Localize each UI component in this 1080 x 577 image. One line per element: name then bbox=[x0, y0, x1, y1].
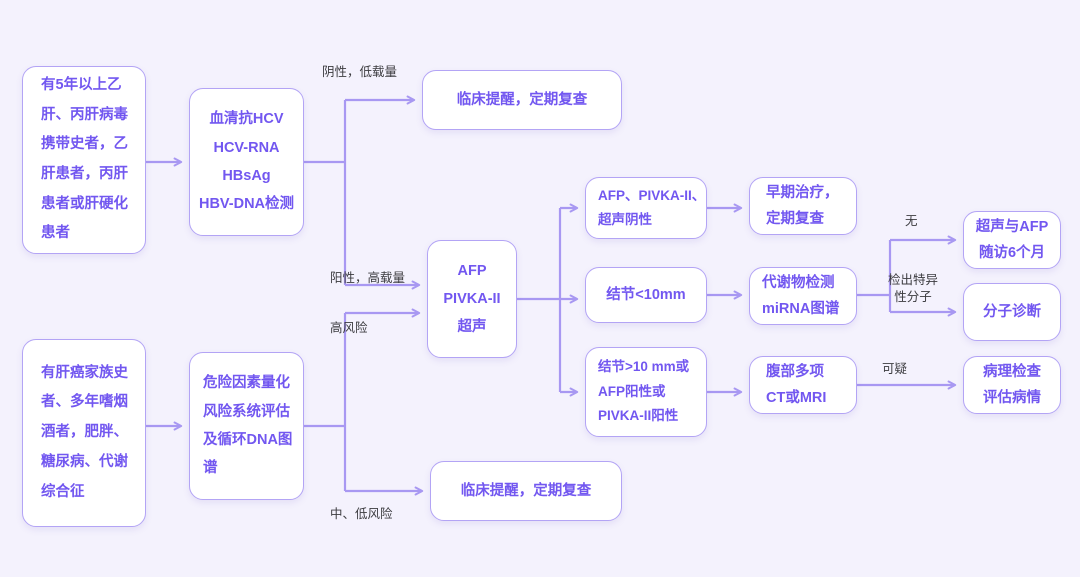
node-line: 超声阴性 bbox=[598, 208, 652, 232]
node-line: 携带史者，乙 bbox=[41, 130, 128, 160]
node-line: 糖尿病、代谢 bbox=[41, 448, 128, 478]
node-early-treatment-followup[interactable]: 早期治疗， 定期复查 bbox=[749, 177, 857, 235]
edge-label-high-risk: 高风险 bbox=[330, 320, 368, 337]
node-line: PIVKA-II阳性 bbox=[598, 404, 678, 429]
node-line: 有肝癌家族史 bbox=[41, 359, 128, 389]
node-line: 结节>10 mm或 bbox=[598, 355, 689, 380]
edge-label-line: 性分子 bbox=[888, 289, 938, 306]
node-line: 肝、丙肝病毒 bbox=[41, 101, 128, 131]
node-afp-pivka-us-negative[interactable]: AFP、PIVKA-II、 超声阴性 bbox=[585, 177, 707, 239]
node-virology-panel[interactable]: 血清抗HCV HCV-RNA HBsAg HBV-DNA检测 bbox=[189, 88, 304, 236]
node-line: HBV-DNA检测 bbox=[199, 190, 294, 218]
edge-label-positive-high-load: 阳性，高载量 bbox=[330, 270, 405, 287]
node-metabolite-mirna[interactable]: 代谢物检测 miRNA图谱 bbox=[749, 267, 857, 325]
edge-label-line: 阳性，高载量 bbox=[330, 271, 405, 285]
node-clinical-reminder-bottom[interactable]: 临床提醒，定期复查 bbox=[430, 461, 622, 521]
edge-label-line: 阴性，低载量 bbox=[322, 65, 397, 79]
node-afp-pivka-ultrasound[interactable]: AFP PIVKA-II 超声 bbox=[427, 240, 517, 358]
node-line: 分子诊断 bbox=[983, 298, 1041, 326]
node-line: 危险因素量化 bbox=[203, 369, 290, 397]
node-risk-group-metabolic[interactable]: 有肝癌家族史 者、多年嗜烟 酒者，肥胖、 糖尿病、代谢 综合征 bbox=[22, 339, 146, 527]
node-line: 结节<10mm bbox=[606, 281, 685, 309]
node-us-afp-followup-6months[interactable]: 超声与AFP 随访6个月 bbox=[963, 211, 1061, 269]
node-line: 定期复查 bbox=[766, 206, 824, 232]
node-line: 血清抗HCV bbox=[209, 105, 283, 133]
edge-label-line: 高风险 bbox=[330, 321, 368, 335]
node-line: PIVKA-II bbox=[443, 285, 500, 313]
node-line: 超声与AFP bbox=[976, 214, 1049, 240]
node-line: AFP阳性或 bbox=[598, 380, 666, 405]
edge-label-line: 中、低风险 bbox=[330, 507, 393, 521]
node-line: miRNA图谱 bbox=[762, 296, 839, 322]
node-line: 综合征 bbox=[41, 478, 85, 508]
node-clinical-reminder-top[interactable]: 临床提醒，定期复查 bbox=[422, 70, 622, 130]
node-line: AFP、PIVKA-II、 bbox=[598, 184, 705, 208]
node-line: 评估病情 bbox=[983, 385, 1041, 411]
edge-label-line: 无 bbox=[905, 214, 918, 228]
node-line: 代谢物检测 bbox=[762, 270, 835, 296]
edge-label-line: 可疑 bbox=[882, 362, 907, 376]
node-line: 者、多年嗜烟 bbox=[41, 388, 128, 418]
node-line: 患者 bbox=[41, 219, 70, 249]
node-line: 风险系统评估 bbox=[203, 398, 290, 426]
node-line: 有5年以上乙 bbox=[41, 71, 122, 101]
node-line: CT或MRI bbox=[766, 385, 826, 411]
node-line: 临床提醒，定期复查 bbox=[461, 477, 592, 505]
flowchart-canvas: 有5年以上乙 肝、丙肝病毒 携带史者，乙 肝患者，丙肝 患者或肝硬化 患者 血清… bbox=[0, 0, 1080, 577]
node-risk-factor-quantification[interactable]: 危险因素量化 风险系统评估 及循环DNA图 谱 bbox=[189, 352, 304, 500]
edge-label-none: 无 bbox=[905, 213, 918, 230]
edge-label-suspicious: 可疑 bbox=[882, 361, 907, 378]
node-pathology-assessment[interactable]: 病理检查 评估病情 bbox=[963, 356, 1061, 414]
node-line: HBsAg bbox=[222, 162, 270, 190]
node-risk-group-hepatitis[interactable]: 有5年以上乙 肝、丙肝病毒 携带史者，乙 肝患者，丙肝 患者或肝硬化 患者 bbox=[22, 66, 146, 254]
node-line: 临床提醒，定期复查 bbox=[457, 86, 588, 114]
edge-label-negative-low-load: 阴性，低载量 bbox=[322, 64, 397, 81]
node-line: 病理检查 bbox=[983, 359, 1041, 385]
node-line: 肝患者，丙肝 bbox=[41, 160, 128, 190]
node-molecular-diagnosis[interactable]: 分子诊断 bbox=[963, 283, 1061, 341]
node-nodule-over-10mm[interactable]: 结节>10 mm或 AFP阳性或 PIVKA-II阳性 bbox=[585, 347, 707, 437]
edge-label-specific-molecule-detected: 检出特异 性分子 bbox=[888, 272, 938, 306]
node-abdominal-ct-mri[interactable]: 腹部多项 CT或MRI bbox=[749, 356, 857, 414]
node-line: 随访6个月 bbox=[979, 240, 1045, 266]
node-line: HCV-RNA bbox=[213, 134, 279, 162]
node-line: 超声 bbox=[458, 313, 487, 341]
node-line: 酒者，肥胖、 bbox=[41, 418, 128, 448]
node-line: 早期治疗， bbox=[766, 180, 839, 206]
node-line: 患者或肝硬化 bbox=[41, 190, 128, 220]
node-nodule-under-10mm[interactable]: 结节<10mm bbox=[585, 267, 707, 323]
node-line: 谱 bbox=[203, 454, 218, 482]
node-line: AFP bbox=[458, 257, 487, 285]
node-line: 及循环DNA图 bbox=[203, 426, 292, 454]
edge-label-line: 检出特异 bbox=[888, 272, 938, 289]
node-line: 腹部多项 bbox=[766, 359, 824, 385]
edge-label-medium-low-risk: 中、低风险 bbox=[330, 506, 393, 523]
